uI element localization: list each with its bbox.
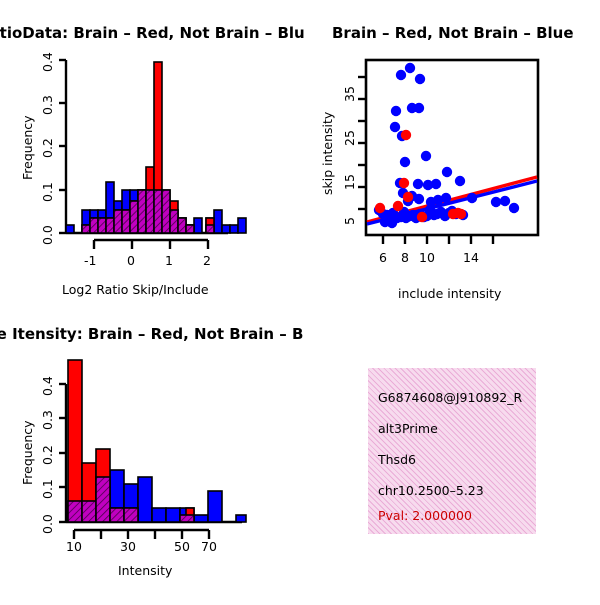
y-tick-log2-4: 0.4	[40, 52, 55, 72]
y-tick-scatter-1: 15	[342, 174, 357, 190]
y-tick-log2-1: 0.1	[40, 182, 55, 202]
panel-gene-intensity-histogram: ne Itensity: Brain – Red, Not Brain – B …	[0, 300, 300, 600]
x-tick-scatter-2: 10	[419, 250, 435, 265]
y-tick-log2-0: 0.0	[40, 225, 55, 245]
y-tick-intensity-4: 0.4	[40, 376, 55, 396]
y-tick-scatter-3: 35	[342, 86, 357, 102]
x-tick-intensity-3: 70	[201, 539, 217, 554]
x-axis-scatter	[383, 235, 493, 244]
panel-intensity-scatter: Brain – Red, Not Brain – Blue skip inten…	[300, 0, 600, 310]
annotation-gene-symbol: Thsd6	[378, 452, 416, 467]
x-tick-scatter-3: 14	[463, 250, 479, 265]
panel-log2-ratio-histogram: RatioData: Brain – Red, Not Brain – Blu …	[0, 0, 300, 310]
x-tick-intensity-1: 30	[120, 539, 136, 554]
y-tick-scatter-2: 25	[342, 130, 357, 146]
x-tick-intensity-2: 50	[174, 539, 190, 554]
x-tick-log2-3: 2	[203, 253, 211, 268]
panel-title-gene-intensity: ne Itensity: Brain – Red, Not Brain – B	[0, 325, 303, 343]
annotation-pval: Pval: 2.000000	[378, 508, 472, 523]
annotation-event-type: alt3Prime	[378, 421, 438, 436]
x-tick-scatter-1: 8	[401, 250, 409, 265]
x-axis-intensity	[66, 522, 242, 539]
panel-title-scatter: Brain – Red, Not Brain – Blue	[332, 24, 574, 42]
x-tick-log2-0: -1	[84, 253, 96, 268]
y-tick-intensity-0: 0.0	[40, 514, 55, 534]
y-tick-log2-3: 0.3	[40, 95, 55, 115]
y-tick-intensity-1: 0.1	[40, 479, 55, 499]
x-tick-intensity-0: 10	[66, 539, 82, 554]
annotation-panel: G6874608@J910892_R alt3Prime Thsd6 chr10…	[368, 368, 536, 534]
x-axis-log2	[66, 233, 228, 249]
x-tick-log2-2: 1	[165, 253, 173, 268]
x-tick-scatter-0: 6	[379, 250, 387, 265]
y-tick-intensity-3: 0.3	[40, 410, 55, 430]
annotation-probe-id: G6874608@J910892_R	[378, 390, 522, 405]
y-tick-scatter-0: 5	[342, 217, 357, 225]
y-tick-log2-2: 0.2	[40, 138, 55, 158]
annotation-locus: chr10.2500–5.23	[378, 483, 484, 498]
y-tick-intensity-2: 0.2	[40, 445, 55, 465]
panel-title-log2-ratio: RatioData: Brain – Red, Not Brain – Blu	[0, 24, 305, 42]
figure-canvas: RatioData: Brain – Red, Not Brain – Blu …	[0, 0, 600, 600]
y-axis-intensity	[59, 384, 66, 522]
x-tick-log2-1: 0	[127, 253, 135, 268]
y-axis-log2	[59, 60, 66, 233]
